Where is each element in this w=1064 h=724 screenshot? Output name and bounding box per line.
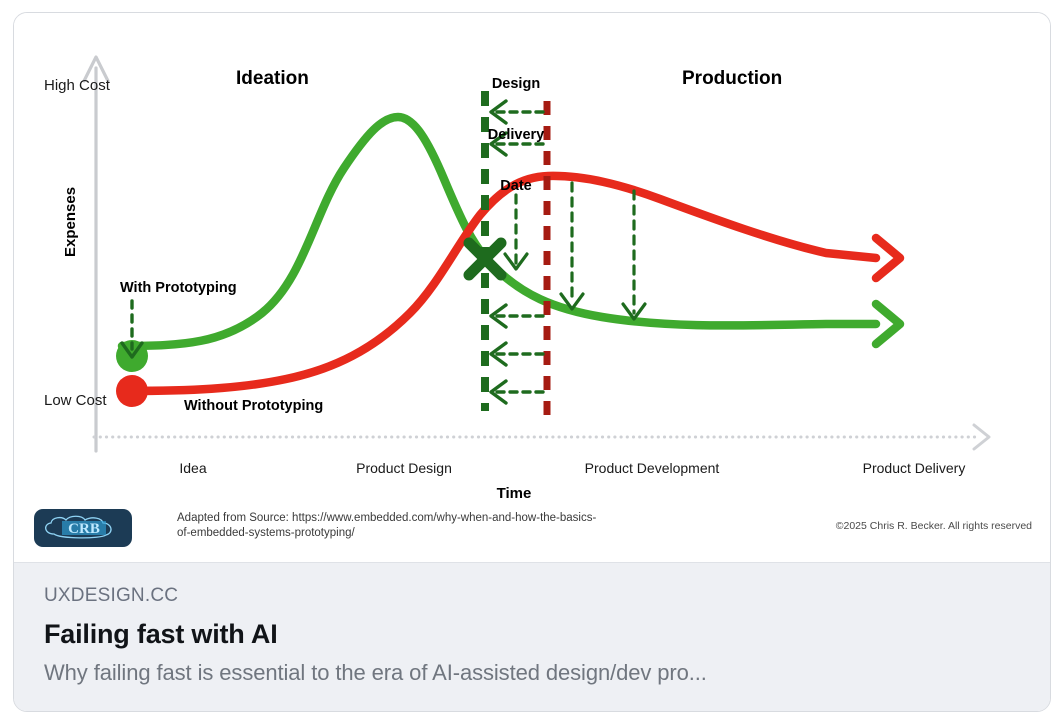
with-prototyping-callout-arrow (122, 301, 142, 357)
y-axis-high-label: High Cost (44, 77, 100, 95)
figure-footer: CRB Adapted from Source: https://www.emb… (14, 503, 1050, 561)
ddate-line-2: Delivery (466, 127, 566, 144)
link-preview-card[interactable]: High Cost Low Cost Expenses Ideation Pro… (13, 12, 1051, 712)
schedule-arrow-3 (491, 305, 543, 327)
x-axis-title: Time (464, 485, 564, 502)
x-tick-product-delivery: Product Delivery (834, 460, 994, 476)
ddate-line-3: Date (466, 178, 566, 195)
phase-label-ideation: Ideation (236, 68, 309, 90)
ddate-line-1: Design (466, 76, 566, 93)
caption-domain: UXDESIGN.CC (44, 585, 1020, 607)
x-axis (94, 425, 989, 449)
cloud-icon: CRB (40, 514, 126, 542)
y-axis-low-label: Low Cost (44, 392, 100, 410)
caption-title[interactable]: Failing fast with AI (44, 619, 1020, 650)
expense-arrow-3 (623, 191, 645, 319)
design-delivery-date-label: Design Delivery Date (466, 42, 566, 229)
red-start-marker (116, 375, 148, 407)
annotation-without-prototyping: Without Prototyping (184, 398, 323, 414)
screenshot-root: High Cost Low Cost Expenses Ideation Pro… (0, 0, 1064, 724)
caption-description: Why failing fast is essential to the era… (44, 660, 1020, 686)
y-axis-title: Expenses (62, 187, 79, 257)
annotation-with-prototyping: With Prototyping (120, 280, 237, 296)
schedule-arrow-5 (491, 381, 543, 403)
crb-logo-text: CRB (68, 521, 100, 537)
copyright-note: ©2025 Chris R. Becker. All rights reserv… (836, 520, 1032, 532)
crb-logo: CRB (34, 509, 132, 547)
x-tick-product-design: Product Design (334, 460, 474, 476)
phase-label-production: Production (682, 68, 782, 90)
schedule-arrow-4 (491, 343, 543, 365)
x-tick-idea: Idea (148, 460, 238, 476)
link-caption[interactable]: UXDESIGN.CC Failing fast with AI Why fai… (14, 562, 1050, 712)
x-tick-product-development: Product Development (562, 460, 742, 476)
source-note: Adapted from Source: https://www.embedde… (177, 511, 607, 541)
chart-figure: High Cost Low Cost Expenses Ideation Pro… (14, 13, 1050, 550)
